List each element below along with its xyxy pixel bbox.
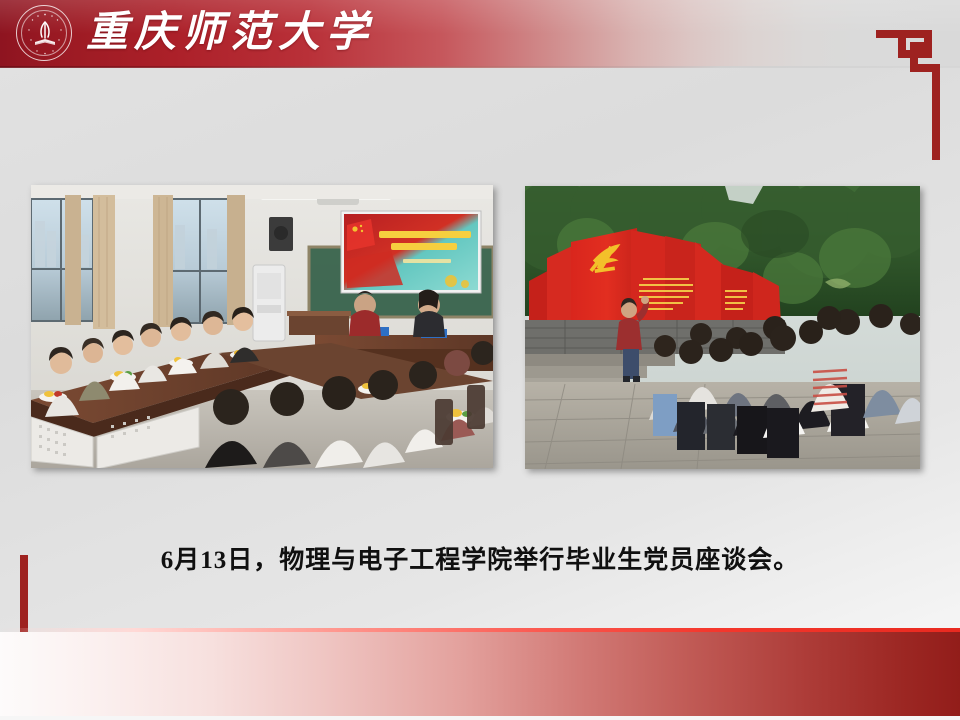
slide-caption: 6月13日，物理与电子工程学院举行毕业生党员座谈会。 [0,540,960,576]
photo-memorial-visit [525,186,920,469]
university-name: 重庆师范大学 [86,3,374,63]
presentation-slide: 重庆师范大学 [0,0,960,720]
bottom-banner [0,632,960,716]
photo-meeting-room [31,185,493,468]
university-seal-icon [16,5,72,61]
top-right-corner-ornament [840,8,952,173]
header-divider [0,66,960,68]
slide-footer-edge [0,716,960,720]
